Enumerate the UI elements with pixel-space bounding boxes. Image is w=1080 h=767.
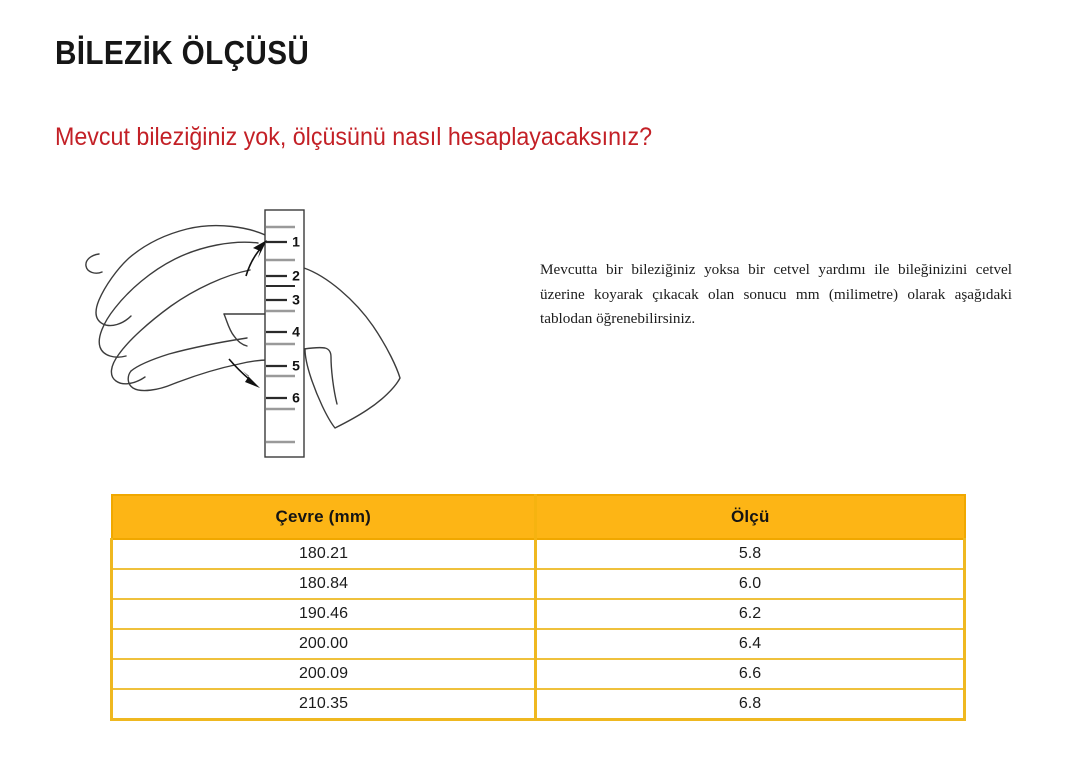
- ruler-label-5: 5: [292, 358, 300, 374]
- bracelet-size-table: Çevre (mm) Ölçü 180.21 5.8 180.84 6.0 19…: [110, 494, 966, 721]
- description-text: Mevcutta bir bileziğiniz yoksa bir cetve…: [540, 258, 1012, 332]
- table-header-row: Çevre (mm) Ölçü: [112, 495, 965, 539]
- table-row: 190.46 6.2: [112, 599, 965, 629]
- ruler-label-4: 4: [292, 324, 300, 340]
- cell-circumference: 180.84: [112, 569, 536, 599]
- hand-outline-group: [86, 226, 400, 428]
- table-row: 200.00 6.4: [112, 629, 965, 659]
- hand-ruler-svg: 1 2 3 4 5 6: [55, 196, 455, 471]
- hand-ruler-illustration: 1 2 3 4 5 6: [55, 196, 455, 471]
- table-row: 180.84 6.0: [112, 569, 965, 599]
- table-row: 210.35 6.8: [112, 689, 965, 720]
- cell-circumference: 210.35: [112, 689, 536, 720]
- table-header: Çevre (mm) Ölçü: [112, 495, 965, 539]
- ruler-group: 1 2 3 4 5 6: [265, 210, 304, 457]
- cell-circumference: 190.46: [112, 599, 536, 629]
- cell-circumference: 200.00: [112, 629, 536, 659]
- cell-size: 6.4: [536, 629, 965, 659]
- cell-size: 6.0: [536, 569, 965, 599]
- cell-size: 6.8: [536, 689, 965, 720]
- ruler-label-6: 6: [292, 390, 300, 406]
- page-subtitle-question: Mevcut bileziğiniz yok, ölçüsünü nasıl h…: [55, 124, 652, 152]
- cell-size: 6.2: [536, 599, 965, 629]
- cell-size: 5.8: [536, 539, 965, 569]
- ruler-label-2: 2: [292, 268, 300, 284]
- cell-circumference: 200.09: [112, 659, 536, 689]
- column-header-size: Ölçü: [536, 495, 965, 539]
- column-header-circumference: Çevre (mm): [112, 495, 536, 539]
- table-row: 180.21 5.8: [112, 539, 965, 569]
- page-title: BİLEZİK ÖLÇÜSÜ: [55, 36, 309, 71]
- cell-circumference: 180.21: [112, 539, 536, 569]
- knuckle-nub-outline: [86, 254, 102, 273]
- cell-size: 6.6: [536, 659, 965, 689]
- description-block: Mevcutta bir bileziğiniz yoksa bir cetve…: [540, 258, 1012, 332]
- table-row: 200.09 6.6: [112, 659, 965, 689]
- table-body: 180.21 5.8 180.84 6.0 190.46 6.2 200.00 …: [112, 539, 965, 720]
- ruler-label-1: 1: [292, 234, 300, 250]
- wrist-notch-outline: [304, 348, 337, 404]
- ruler-label-3: 3: [292, 292, 300, 308]
